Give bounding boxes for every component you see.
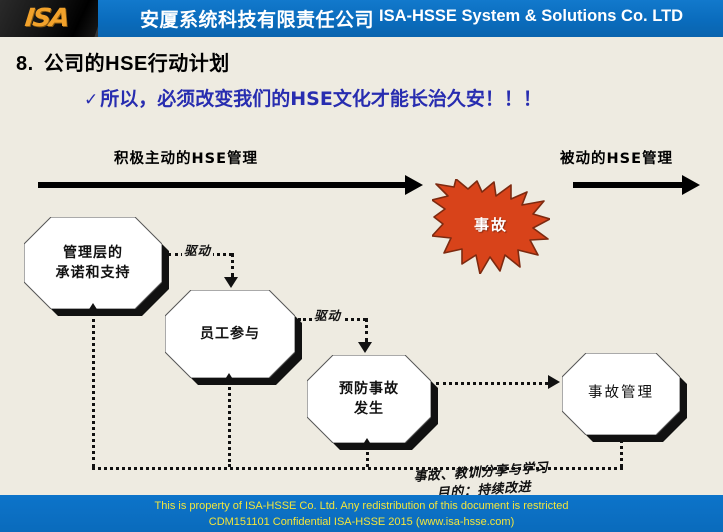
node-label: 管理层的 承诺和支持 <box>24 217 162 309</box>
slide-body: 8.公司的HSE行动计划 ✓所以，必须改变我们的HSE文化才能长治久安！！！ 积… <box>0 37 723 495</box>
check-icon: ✓ <box>84 90 98 110</box>
footer-line-2: CDM151101 Confidential ISA-HSSE 2015 (ww… <box>0 515 723 531</box>
feedback-branch-participation <box>228 382 231 467</box>
reactive-arrow <box>573 182 683 188</box>
node-label: 预防事故 发生 <box>307 355 431 443</box>
connector-drive-1-arrow <box>224 277 238 288</box>
arrow-head-icon <box>405 175 423 195</box>
connector-label-drive-1: 驱动 <box>182 240 213 259</box>
feedback-arrow-participation <box>222 373 236 384</box>
footer-bar: This is property of ISA-HSSE Co. Ltd. An… <box>0 495 723 532</box>
connector-to-incident-mgmt <box>436 382 548 385</box>
node-label: 事故管理 <box>562 353 680 435</box>
node-label-line: 发生 <box>354 399 384 419</box>
connector-label-drive-2: 驱动 <box>312 305 343 324</box>
reactive-arrow-label: 被动的HSE管理 <box>560 147 673 168</box>
connector-drive-2-arrow <box>358 342 372 353</box>
header-banner: 安厦系统科技有限责任公司 ISA-HSSE System & Solutions… <box>98 0 723 37</box>
company-name-cn: 安厦系统科技有限责任公司 <box>140 5 374 32</box>
node-label-line: 管理层的 <box>63 243 123 263</box>
node-commitment[interactable]: 管理层的 承诺和支持 <box>24 217 162 309</box>
bullet-line: ✓所以，必须改变我们的HSE文化才能长治久安！！！ <box>84 84 542 111</box>
isa-logo: ISA <box>23 3 69 32</box>
feedback-arrow-commitment <box>86 303 100 314</box>
starburst-label: 事故 <box>432 214 550 235</box>
node-label-line: 承诺和支持 <box>56 263 131 283</box>
connector-to-incident-mgmt-arrow <box>548 375 560 389</box>
proactive-arrow-label: 积极主动的HSE管理 <box>114 147 258 168</box>
node-label: 员工参与 <box>165 290 295 378</box>
proactive-arrow <box>38 182 406 188</box>
page-title: 8.公司的HSE行动计划 <box>16 47 230 76</box>
arrow-head-icon <box>682 175 700 195</box>
node-label-line: 员工参与 <box>200 324 260 344</box>
feedback-loop-down <box>620 435 623 467</box>
bullet-text: 所以，必须改变我们的HSE文化才能长治久安！！！ <box>100 88 542 110</box>
incident-starburst: 事故 <box>432 179 550 274</box>
connector-drive-2-v <box>365 318 368 342</box>
footer-line-1: This is property of ISA-HSSE Co. Ltd. An… <box>0 499 723 515</box>
node-prevention[interactable]: 预防事故 发生 <box>307 355 431 443</box>
node-label-line: 预防事故 <box>339 379 399 399</box>
app-header: ISA 安厦系统科技有限责任公司 ISA-HSSE System & Solut… <box>0 0 723 37</box>
feedback-branch-commitment <box>92 312 95 467</box>
node-participation[interactable]: 员工参与 <box>165 290 295 378</box>
company-name-en: ISA-HSSE System & Solutions Co. LTD <box>379 7 683 26</box>
feedback-branch-prevention <box>366 447 369 467</box>
feedback-arrow-prevention <box>360 438 374 449</box>
node-label-line: 事故管理 <box>588 383 654 404</box>
node-incident-management[interactable]: 事故管理 <box>562 353 680 435</box>
page-title-number: 8. <box>16 53 34 75</box>
connector-drive-1-v <box>231 253 234 277</box>
page-title-text: 公司的HSE行动计划 <box>44 53 230 75</box>
